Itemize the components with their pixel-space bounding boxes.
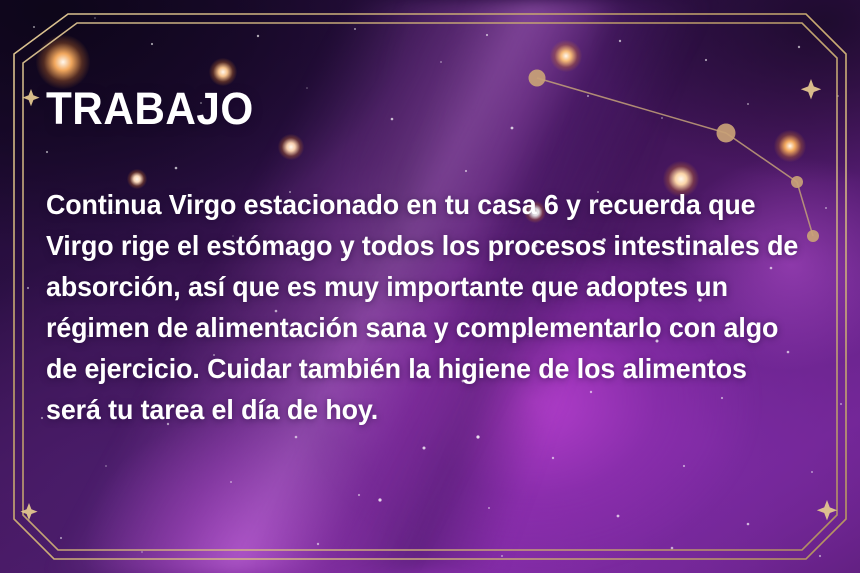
horoscope-card: TRABAJO Continua Virgo estacionado en tu… <box>0 0 860 573</box>
horoscope-body-text: Continua Virgo estacionado en tu casa 6 … <box>46 184 801 430</box>
page-title: TRABAJO <box>46 86 774 131</box>
card-content: TRABAJO Continua Virgo estacionado en tu… <box>46 86 820 430</box>
